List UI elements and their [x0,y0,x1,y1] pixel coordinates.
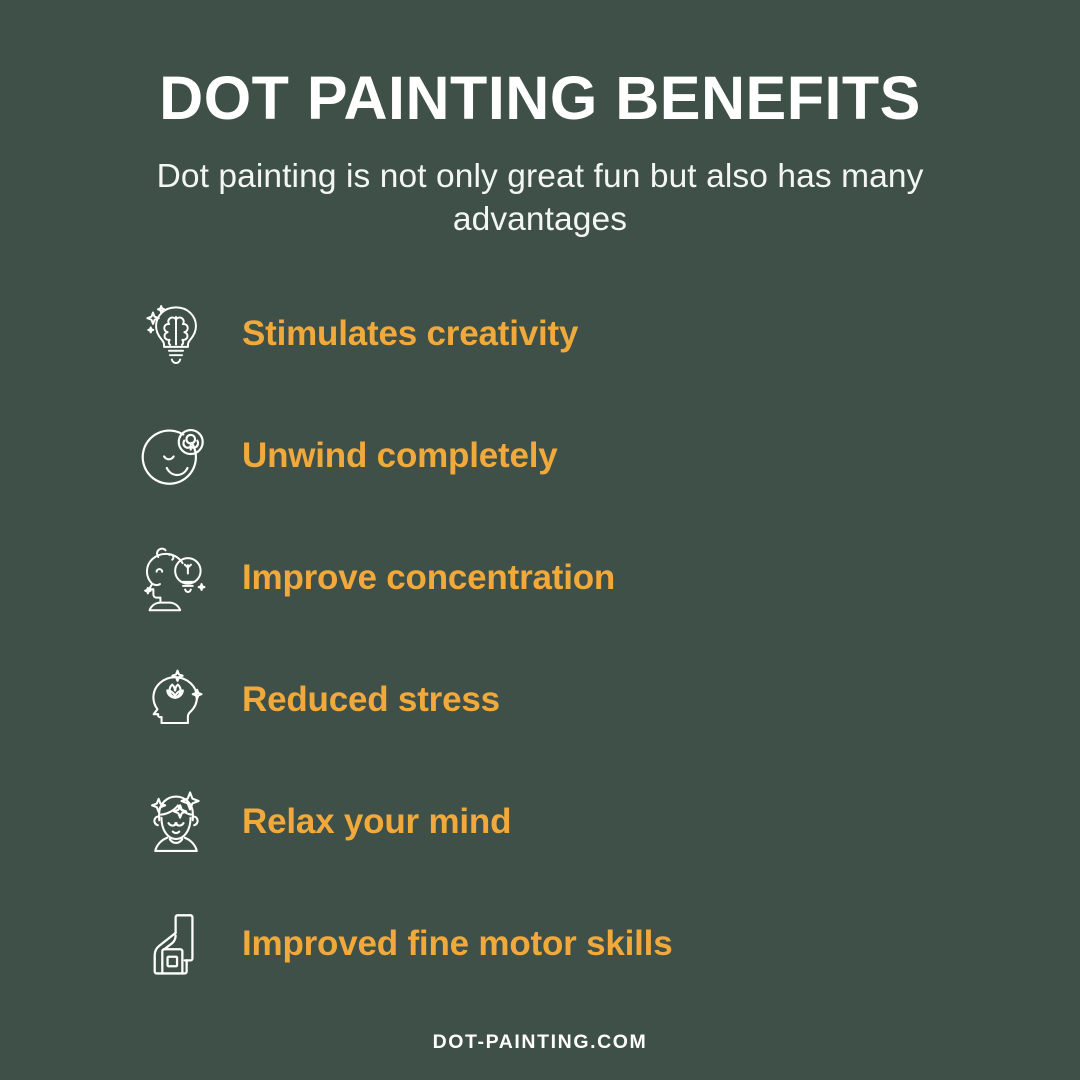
footer: DOT-PAINTING.COM [0,1031,1080,1054]
hand-holding-object-icon [136,904,216,984]
benefit-item-unwind-completely: Unwind completely [0,409,1080,503]
benefit-label: Relax your mind [242,802,511,842]
benefit-label: Improved fine motor skills [242,924,672,964]
benefit-item-reduced-stress: Reduced stress [0,653,1080,747]
page-title: DOT PAINTING BENEFITS [0,66,1080,132]
benefit-item-improve-concentration: Improve concentration [0,531,1080,625]
benefit-label: Improve concentration [242,558,615,598]
head-lightbulb-icon [136,538,216,618]
smiling-face-flower-icon [136,416,216,496]
benefit-label: Stimulates creativity [242,314,578,354]
benefit-item-improved-fine-motor-skills: Improved fine motor skills [0,897,1080,991]
benefit-item-stimulates-creativity: Stimulates creativity [0,287,1080,381]
benefit-label: Unwind completely [242,436,558,476]
benefit-item-relax-your-mind: Relax your mind [0,775,1080,869]
header: DOT PAINTING BENEFITS Dot painting is no… [0,0,1080,242]
head-lotus-icon [136,660,216,740]
benefit-label: Reduced stress [242,680,500,720]
page-subtitle: Dot painting is not only great fun but a… [145,156,935,242]
brain-lightbulb-icon [136,294,216,374]
infographic-poster: DOT PAINTING BENEFITS Dot painting is no… [0,0,1080,1080]
website-url: DOT-PAINTING.COM [433,1031,648,1053]
benefits-list: Stimulates creativity Unwind completely [0,287,1080,1019]
calm-face-sparkles-icon [136,782,216,862]
